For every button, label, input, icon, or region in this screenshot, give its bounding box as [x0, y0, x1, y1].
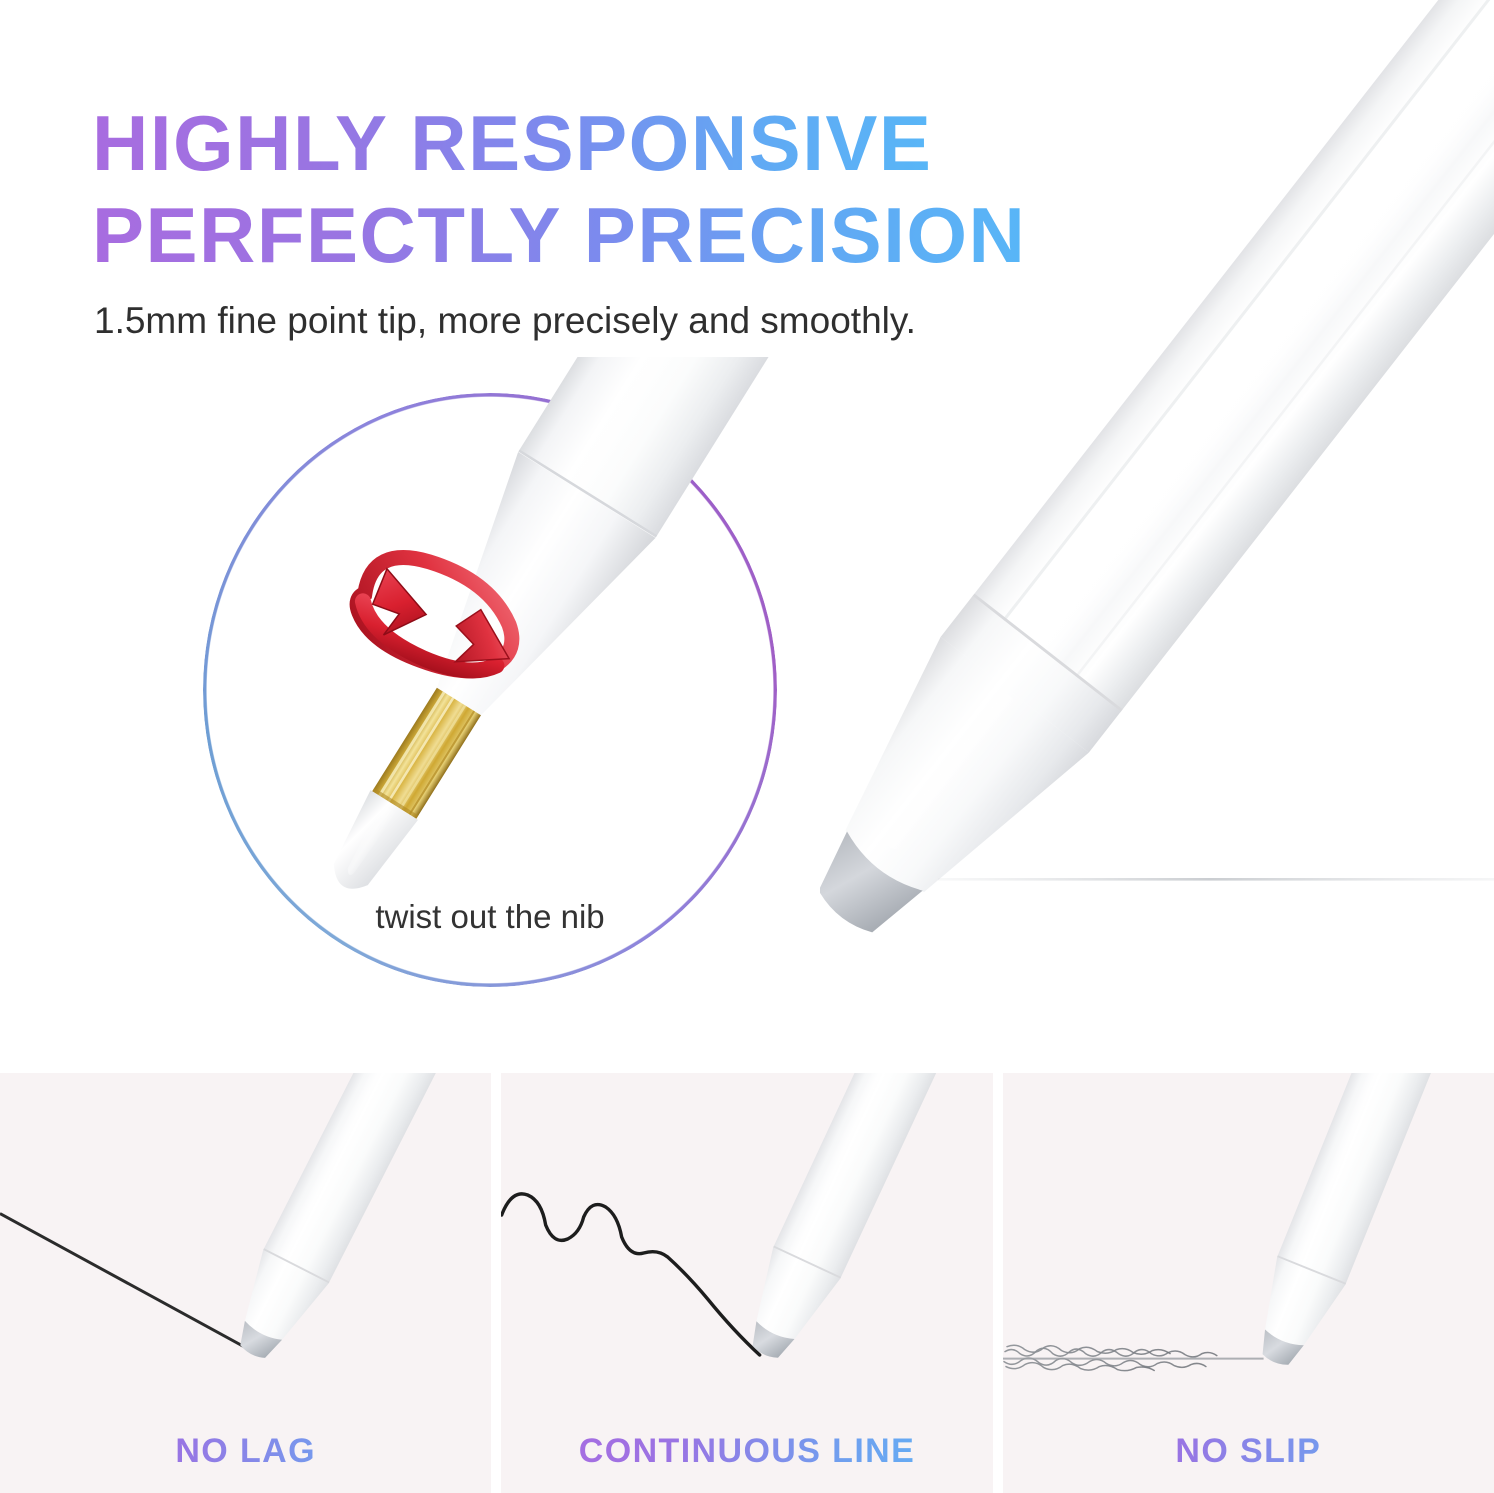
panel-label-continuous-line: CONTINUOUS LINE [501, 1432, 992, 1471]
product-feature-image: HIGHLY RESPONSIVE PERFECTLY PRECISION 1.… [0, 0, 1494, 1493]
callout-caption: twist out the nib [203, 898, 777, 936]
headline-line-1: HIGHLY RESPONSIVE [92, 104, 932, 182]
panel-label-no-slip: NO SLIP [1003, 1432, 1494, 1471]
panel-label-no-lag: NO LAG [0, 1432, 491, 1471]
hero-subtitle: 1.5mm fine point tip, more precisely and… [94, 300, 916, 342]
headline-line-2: PERFECTLY PRECISION [92, 196, 1026, 274]
panel-no-slip: NO SLIP [1003, 1073, 1494, 1493]
feature-panels-row: NO LAG [0, 1073, 1494, 1493]
panel-no-lag: NO LAG [0, 1073, 491, 1493]
panel-continuous-line: CONTINUOUS LINE [501, 1073, 992, 1493]
continuous-line-artwork [501, 1073, 992, 1493]
no-lag-artwork [0, 1073, 491, 1493]
nib-callout-circle: twist out the nib [203, 393, 777, 987]
no-slip-artwork [1003, 1073, 1494, 1493]
